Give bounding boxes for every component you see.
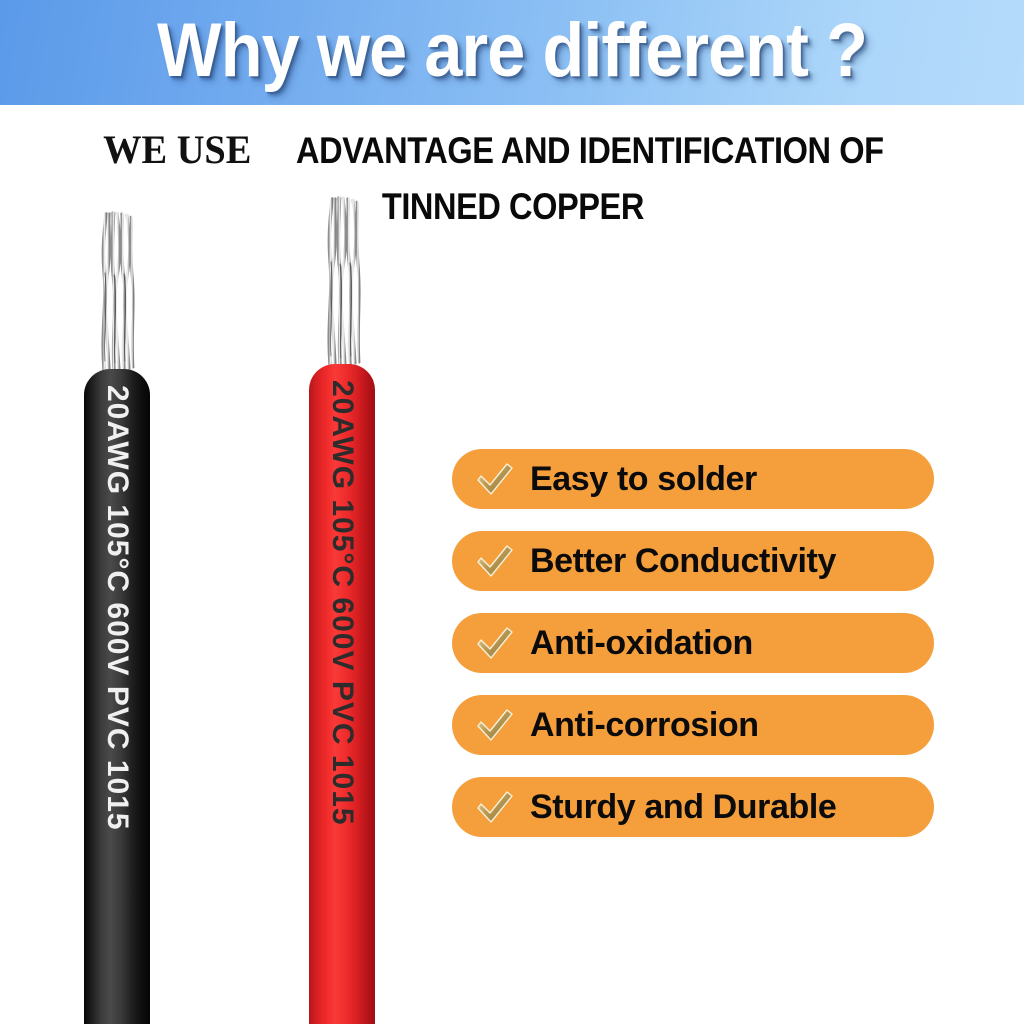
feature-pill-better-conductivity[interactable]: Better Conductivity [452, 531, 934, 591]
subtitle-headline-line1: ADVANTAGE AND IDENTIFICATION OF [297, 129, 884, 173]
check-icon [474, 705, 516, 745]
feature-pill-anti-oxidation[interactable]: Anti-oxidation [452, 613, 934, 673]
black-wire-insulation: 20AWG 105°C 600V PVC 1015 [84, 369, 150, 1024]
feature-pill-anti-corrosion[interactable]: Anti-corrosion [452, 695, 934, 755]
feature-pill-sturdy-and-durable[interactable]: Sturdy and Durable [452, 777, 934, 837]
feature-list: Easy to solder Better Conductivity Anti-… [452, 449, 934, 837]
wire-photo-area: 20AWG 105°C 600V PVC 1015 [0, 200, 430, 1024]
feature-label: Easy to solder [530, 462, 757, 496]
tinned-copper-strands-red-icon [320, 196, 364, 366]
black-wire: 20AWG 105°C 600V PVC 1015 [84, 369, 150, 1024]
red-wire-insulation: 20AWG 105°C 600V PVC 1015 [309, 364, 375, 1024]
check-icon [474, 541, 516, 581]
black-wire-label: 20AWG 105°C 600V PVC 1015 [100, 385, 134, 831]
subtitle-prefix: WE USE [103, 128, 251, 172]
subtitle-line-1: WE USEADVANTAGE AND IDENTIFICATION OF [24, 128, 1000, 181]
check-icon [474, 623, 516, 663]
header-banner: Why we are different ? [0, 0, 1024, 105]
page-title: Why we are different ? [51, 8, 973, 94]
check-icon [474, 787, 516, 827]
feature-label: Anti-oxidation [530, 626, 753, 660]
red-wire: 20AWG 105°C 600V PVC 1015 [309, 364, 375, 1024]
feature-label: Sturdy and Durable [530, 790, 836, 824]
red-wire-label: 20AWG 105°C 600V PVC 1015 [325, 380, 359, 826]
feature-pill-easy-to-solder[interactable]: Easy to solder [452, 449, 934, 509]
feature-label: Anti-corrosion [530, 708, 759, 742]
tinned-copper-strands-black-icon [95, 211, 139, 371]
feature-label: Better Conductivity [530, 544, 836, 578]
check-icon [474, 459, 516, 499]
